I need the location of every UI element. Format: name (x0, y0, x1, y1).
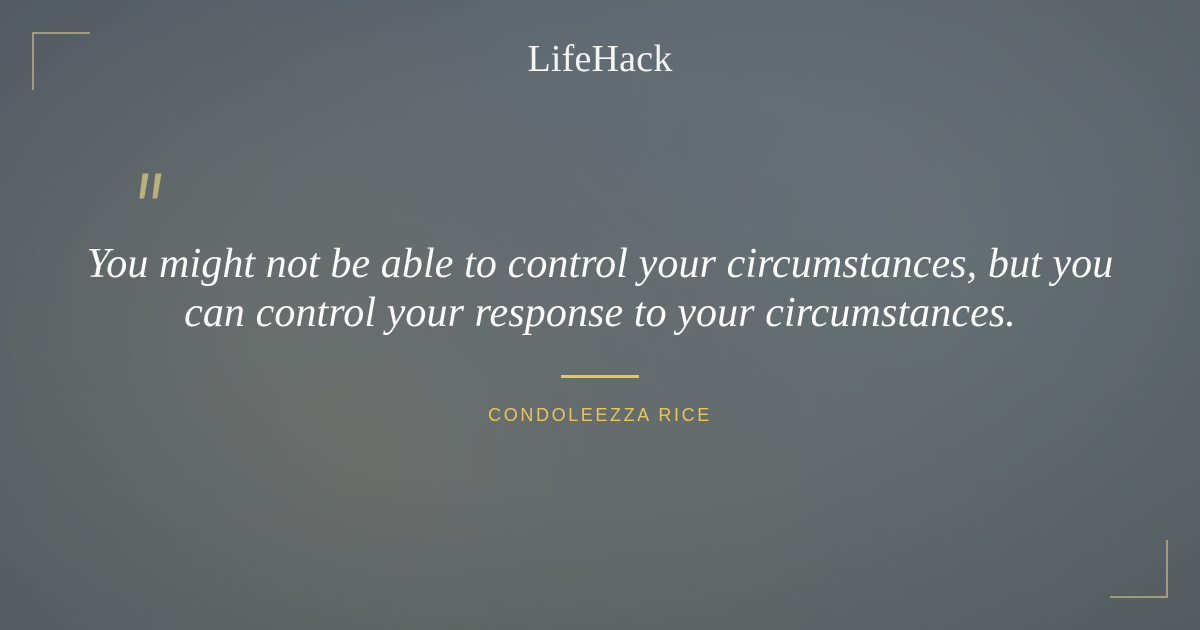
attribution-block: CONDOLEEZZA RICE (0, 375, 1200, 426)
corner-bracket-bottom-right-icon (1110, 540, 1168, 598)
quote-line-1: You might not be able to control your ci… (70, 240, 1130, 289)
quote-author: CONDOLEEZZA RICE (0, 405, 1200, 426)
attribution-divider (561, 375, 639, 378)
quote-mark-icon (128, 168, 176, 216)
quote-card: LifeHack You might not be able to contro… (0, 0, 1200, 630)
brand-header: LifeHack (0, 40, 1200, 78)
lifehack-logo: LifeHack (527, 40, 672, 78)
quote-block: You might not be able to control your ci… (70, 240, 1130, 338)
quote-line-2: can control your response to your circum… (70, 289, 1130, 338)
